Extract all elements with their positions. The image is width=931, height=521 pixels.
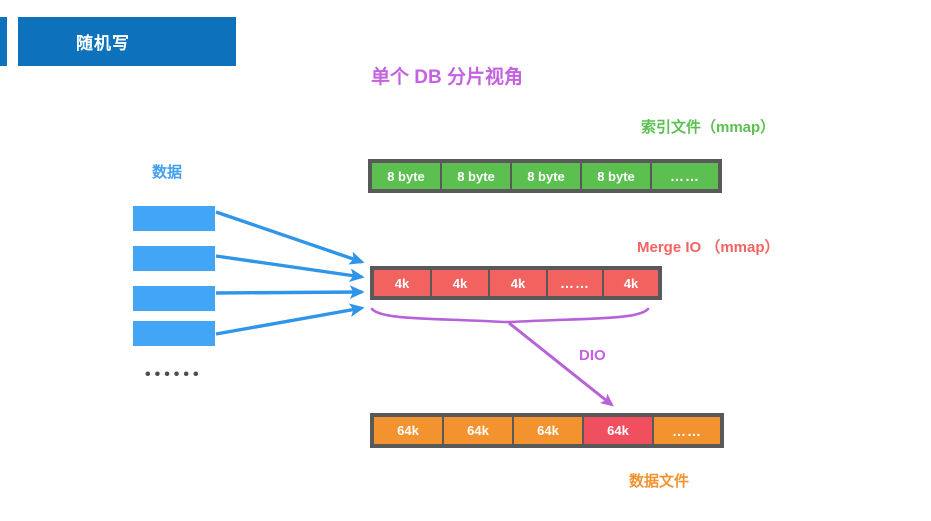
slide-canvas: 随机写 单个 DB 分片视角 索引文件（mmap） Merge IO （mmap… [0,0,931,521]
data-block [133,246,215,271]
data-flow-arrow [216,256,362,277]
data-block [133,286,215,311]
dio-label: DIO [579,347,606,364]
data-label: 数据 [152,161,182,182]
merge-io-row-cell: 4k [374,270,430,296]
index-file-label: 索引文件（mmap） [641,116,775,137]
header-accent-bar [0,17,7,66]
header-title-text: 随机写 [76,29,130,54]
data-ellipsis: •••••• [145,366,203,384]
data-block [133,206,215,231]
data-file-row-cell: 64k [444,417,512,444]
data-file-row-cell: 64k [584,417,652,444]
data-flow-arrow [216,308,362,334]
merge-io-label: Merge IO （mmap） [637,236,780,257]
index-file-row-cell: 8 byte [372,163,440,189]
data-file-row: 64k64k64k64k…… [370,413,724,448]
merge-io-row: 4k4k4k……4k [370,266,662,300]
data-flow-arrow [216,292,362,293]
index-file-row-cell: 8 byte [512,163,580,189]
dio-arrow [509,323,612,405]
data-file-row-cell: 64k [514,417,582,444]
index-file-row: 8 byte8 byte8 byte8 byte…… [368,159,722,193]
index-file-row-cell: 8 byte [582,163,650,189]
slide-title: 单个 DB 分片视角 [371,62,523,89]
data-flow-arrow [216,212,362,262]
data-block [133,321,215,346]
index-file-row-cell: …… [652,163,718,189]
index-file-row-cell: 8 byte [442,163,510,189]
data-file-row-cell: …… [654,417,720,444]
merge-brace [372,309,648,322]
merge-io-row-cell: 4k [432,270,488,296]
data-file-label: 数据文件 [629,470,689,491]
merge-io-row-cell: 4k [490,270,546,296]
data-file-row-cell: 64k [374,417,442,444]
merge-io-row-cell: …… [548,270,602,296]
merge-io-row-cell: 4k [604,270,658,296]
